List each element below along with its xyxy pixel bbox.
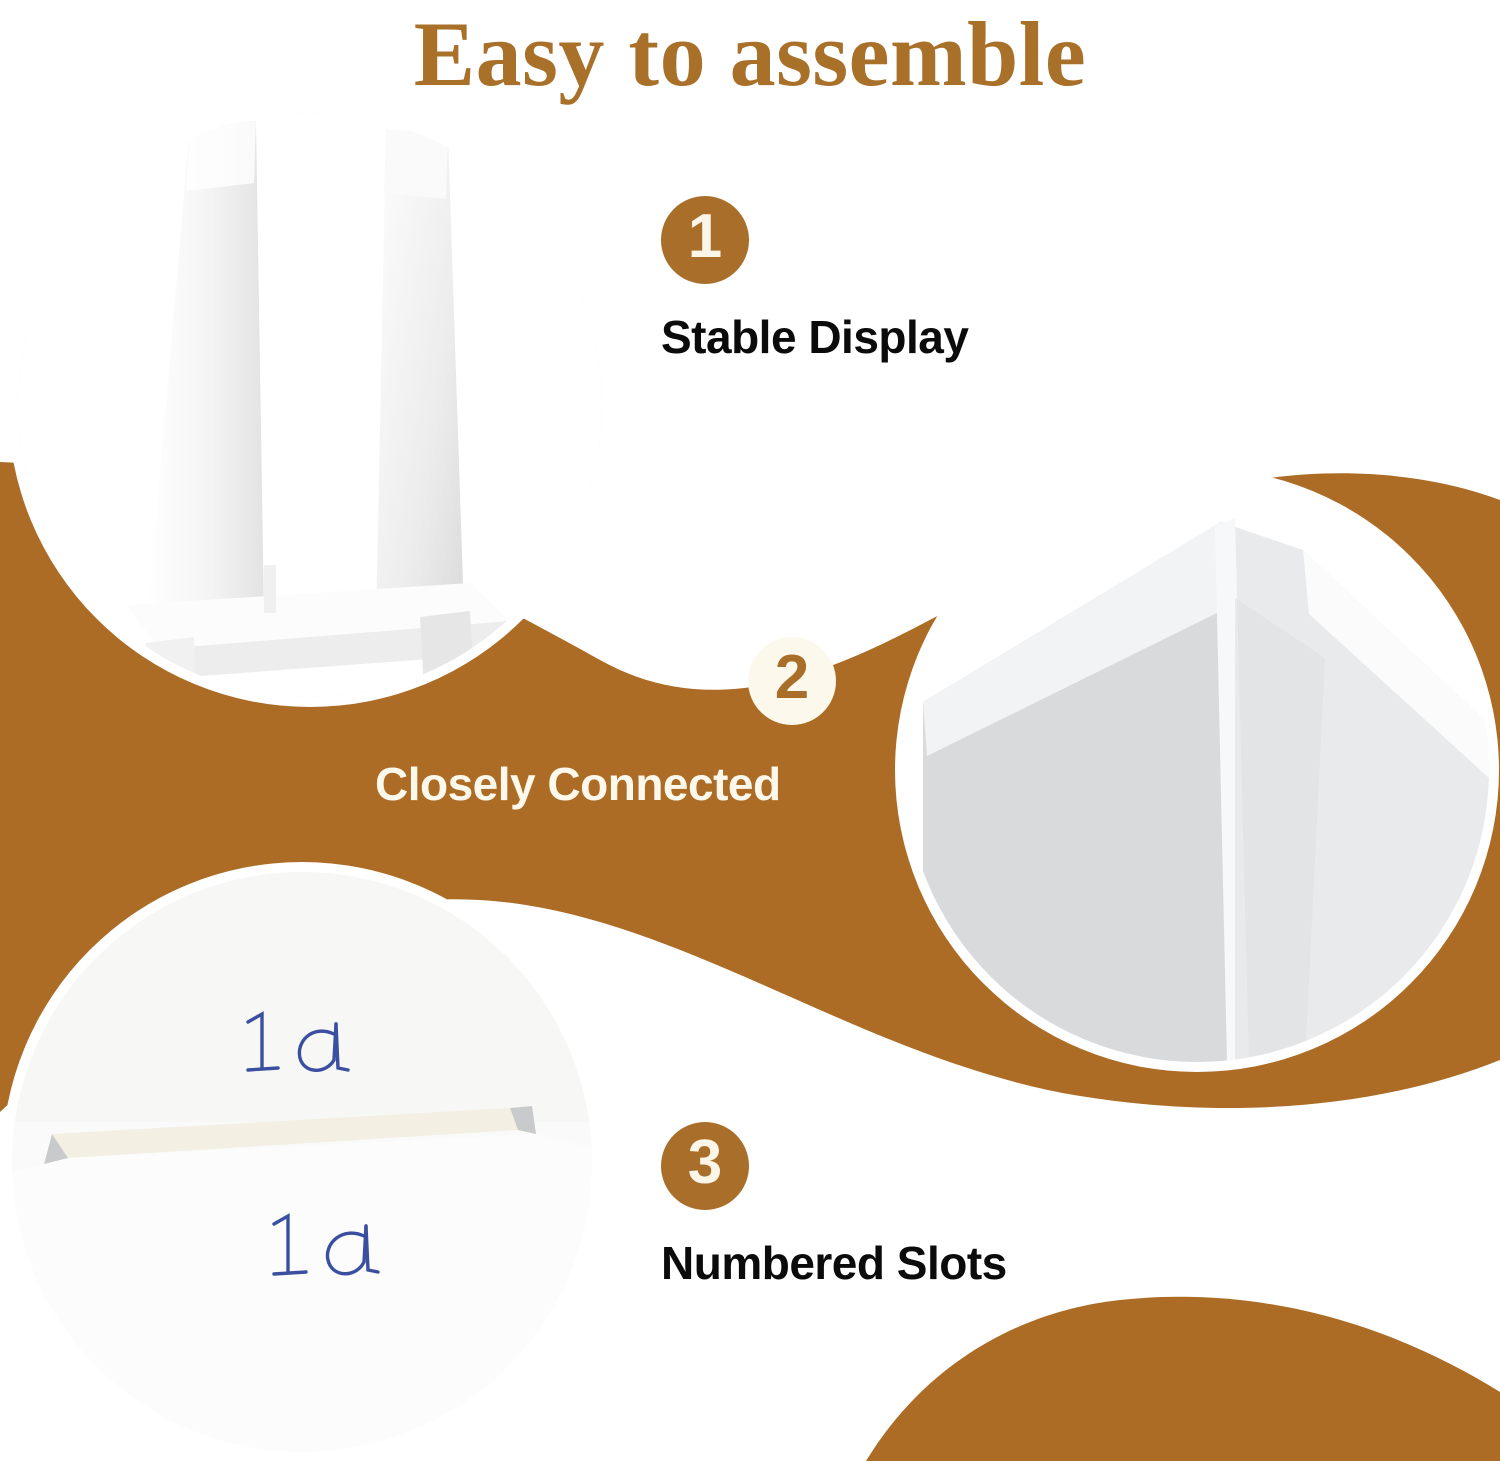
- step-3: 3 Numbered Slots: [661, 1122, 1007, 1289]
- step-3-label: Numbered Slots: [661, 1237, 1007, 1289]
- step-1: 1 Stable Display: [661, 196, 968, 363]
- photo-numbered-slots: [12, 872, 592, 1452]
- step-2-number: 2: [775, 647, 809, 709]
- infographic-canvas: Easy to assemble 1 Stable Display 2 Clos…: [0, 0, 1500, 1461]
- step-3-number: 3: [688, 1132, 722, 1194]
- step-2-badge-wrap: 2: [748, 637, 836, 725]
- step-1-number: 1: [688, 206, 722, 268]
- page-title: Easy to assemble: [0, 2, 1500, 107]
- step-1-badge-wrap: 1: [661, 196, 749, 284]
- step-3-badge: 3: [661, 1122, 749, 1210]
- step-1-label: Stable Display: [661, 311, 968, 363]
- step-2: 2 Closely Connected: [748, 637, 836, 810]
- step-2-badge: 2: [748, 637, 836, 725]
- photo-stable-base: [18, 113, 602, 697]
- step-3-badge-wrap: 3: [661, 1122, 749, 1210]
- step-1-badge: 1: [661, 196, 749, 284]
- photo-corner-joint-image: [905, 478, 1489, 1062]
- photo-corner-joint: [905, 478, 1489, 1062]
- step-2-label: Closely Connected: [375, 758, 836, 810]
- photo-numbered-slots-image: [12, 872, 592, 1452]
- photo-stable-base-image: [18, 113, 602, 697]
